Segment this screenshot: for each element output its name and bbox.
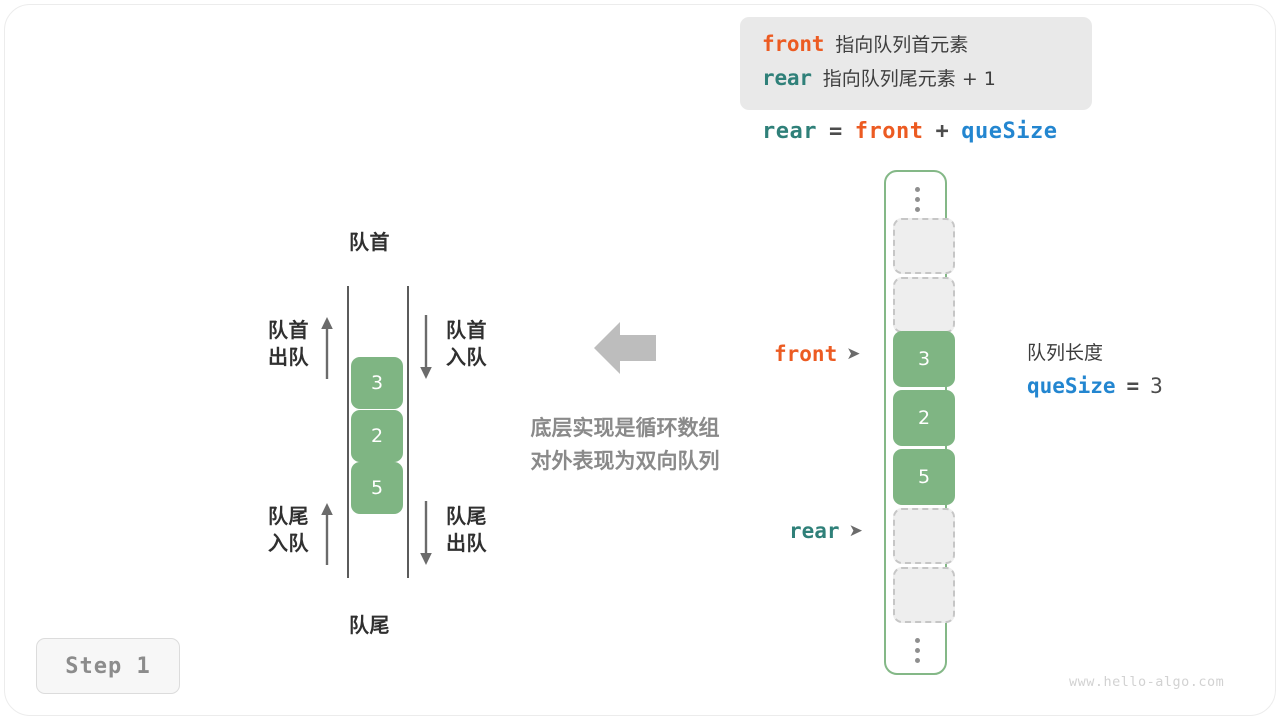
array-bottom-ellipsis-icon xyxy=(886,627,949,673)
formula-rear: rear xyxy=(762,119,817,144)
deque-op-front-dequeue-line2: 出队 xyxy=(249,344,309,371)
deque-bottom-label: 队尾 xyxy=(349,612,390,639)
rear-pointer-label: rear ➤ xyxy=(789,519,863,543)
deque-op-rear-dequeue-line2: 出队 xyxy=(446,530,487,557)
array-cell-3: 2 xyxy=(893,390,955,446)
deque-top-label: 队首 xyxy=(349,229,390,256)
deque-op-front-dequeue: 队首 出队 xyxy=(249,317,309,371)
rear-pointer-text: rear xyxy=(789,519,840,543)
deque-op-front-dequeue-line1: 队首 xyxy=(249,317,309,344)
formula-front: front xyxy=(855,119,924,144)
array-cell-3-value: 2 xyxy=(918,407,930,429)
quesize-name: queSize xyxy=(1027,374,1116,398)
front-description: 指向队列首元素 xyxy=(835,30,968,57)
rear-pointer-arrow-icon: ➤ xyxy=(849,523,863,540)
deque-op-rear-enqueue-line1: 队尾 xyxy=(249,503,309,530)
deque-cell-1-value: 2 xyxy=(371,425,383,447)
front-pointer-text: front xyxy=(774,342,837,366)
diagram-canvas: front 指向队列首元素 rear 指向队列尾元素 + 1 rear=fron… xyxy=(0,0,1280,720)
deque-cell-2: 5 xyxy=(351,462,403,514)
array-cell-0 xyxy=(893,218,955,274)
array-cell-4: 5 xyxy=(893,449,955,505)
front-pointer-arrow-icon: ➤ xyxy=(846,346,860,363)
deque-op-rear-enqueue-line2: 入队 xyxy=(249,530,309,557)
rear-description: 指向队列尾元素 + 1 xyxy=(823,64,996,91)
quesize-note: 队列长度 queSize=3 xyxy=(1027,338,1163,402)
array-cell-2: 3 xyxy=(893,331,955,387)
array-top-ellipsis-icon xyxy=(886,176,949,222)
note-line-rear: rear 指向队列尾元素 + 1 xyxy=(762,64,1092,98)
arrow-down-rear-dequeue-icon xyxy=(418,501,434,567)
left-block-arrow-icon xyxy=(594,320,656,376)
formula-plus: + xyxy=(935,119,949,144)
array-cell-6 xyxy=(893,567,955,623)
quesize-equals: = xyxy=(1127,374,1140,398)
arrow-up-rear-enqueue-icon xyxy=(319,501,335,567)
formula-quesize: queSize xyxy=(961,119,1057,144)
center-caption: 底层实现是循环数组 对外表现为双向队列 xyxy=(502,412,748,478)
array-cell-1 xyxy=(893,277,955,333)
deque-op-rear-enqueue: 队尾 入队 xyxy=(249,503,309,557)
step-badge-label: Step 1 xyxy=(65,654,150,679)
deque-cell-0-value: 3 xyxy=(371,372,383,394)
deque-op-rear-dequeue-line1: 队尾 xyxy=(446,503,487,530)
pointer-definition-note: front 指向队列首元素 rear 指向队列尾元素 + 1 xyxy=(740,17,1092,110)
step-badge: Step 1 xyxy=(36,638,180,694)
rear-keyword: rear xyxy=(762,66,812,90)
rear-formula: rear=front+queSize xyxy=(762,119,1057,144)
front-keyword: front xyxy=(762,32,824,56)
deque-op-front-enqueue-line1: 队首 xyxy=(446,317,487,344)
deque-cell-0: 3 xyxy=(351,357,403,409)
arrow-down-front-enqueue-icon xyxy=(418,315,434,381)
circular-array-container: 3 2 5 xyxy=(884,170,947,675)
array-cell-2-value: 3 xyxy=(918,348,930,370)
quesize-note-label: 队列长度 xyxy=(1027,338,1163,368)
watermark: www.hello-algo.com xyxy=(1069,674,1224,690)
quesize-note-value-line: queSize=3 xyxy=(1027,370,1163,402)
deque-op-front-enqueue-line2: 入队 xyxy=(446,344,487,371)
deque-left-rail xyxy=(347,286,349,578)
deque-cell-2-value: 5 xyxy=(371,477,383,499)
deque-op-front-enqueue: 队首 入队 xyxy=(446,317,487,371)
front-pointer-label: front ➤ xyxy=(774,342,860,366)
array-cell-4-value: 5 xyxy=(918,466,930,488)
center-caption-line1: 底层实现是循环数组 xyxy=(502,412,748,445)
note-line-front: front 指向队列首元素 xyxy=(762,30,1092,64)
deque-cell-1: 2 xyxy=(351,410,403,462)
formula-equals: = xyxy=(829,119,843,144)
quesize-value: 3 xyxy=(1150,374,1163,398)
arrow-up-front-dequeue-icon xyxy=(319,315,335,381)
deque-right-rail xyxy=(407,286,409,578)
array-cell-5 xyxy=(893,508,955,564)
center-caption-line2: 对外表现为双向队列 xyxy=(502,445,748,478)
deque-op-rear-dequeue: 队尾 出队 xyxy=(446,503,487,557)
